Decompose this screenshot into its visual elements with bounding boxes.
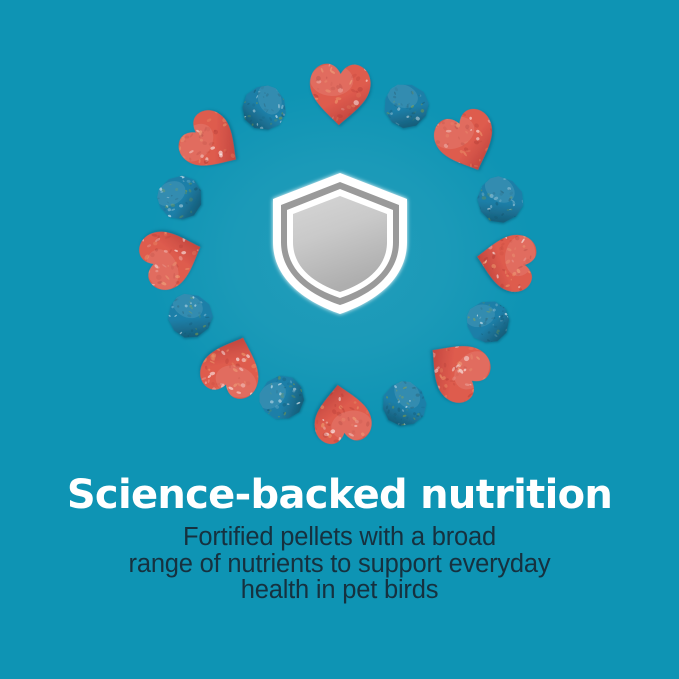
- subtitle-line-3: health in pet birds: [0, 577, 679, 604]
- pellet-red-1: [303, 55, 377, 129]
- subtitle-line-2: range of nutrients to support everyday: [0, 551, 679, 578]
- shield-icon: [265, 168, 415, 318]
- page-title: Science-backed nutrition: [0, 472, 679, 518]
- subtitle-line-1: Fortified pellets with a broad: [0, 524, 679, 551]
- pellet-red-3: [469, 223, 548, 302]
- promo-banner: Science-backed nutrition Fortified pelle…: [0, 0, 679, 679]
- page-subtitle: Fortified pellets with a broad range of …: [0, 524, 679, 604]
- pellet-red-5: [304, 378, 381, 455]
- text-block: Science-backed nutrition Fortified pelle…: [0, 472, 679, 604]
